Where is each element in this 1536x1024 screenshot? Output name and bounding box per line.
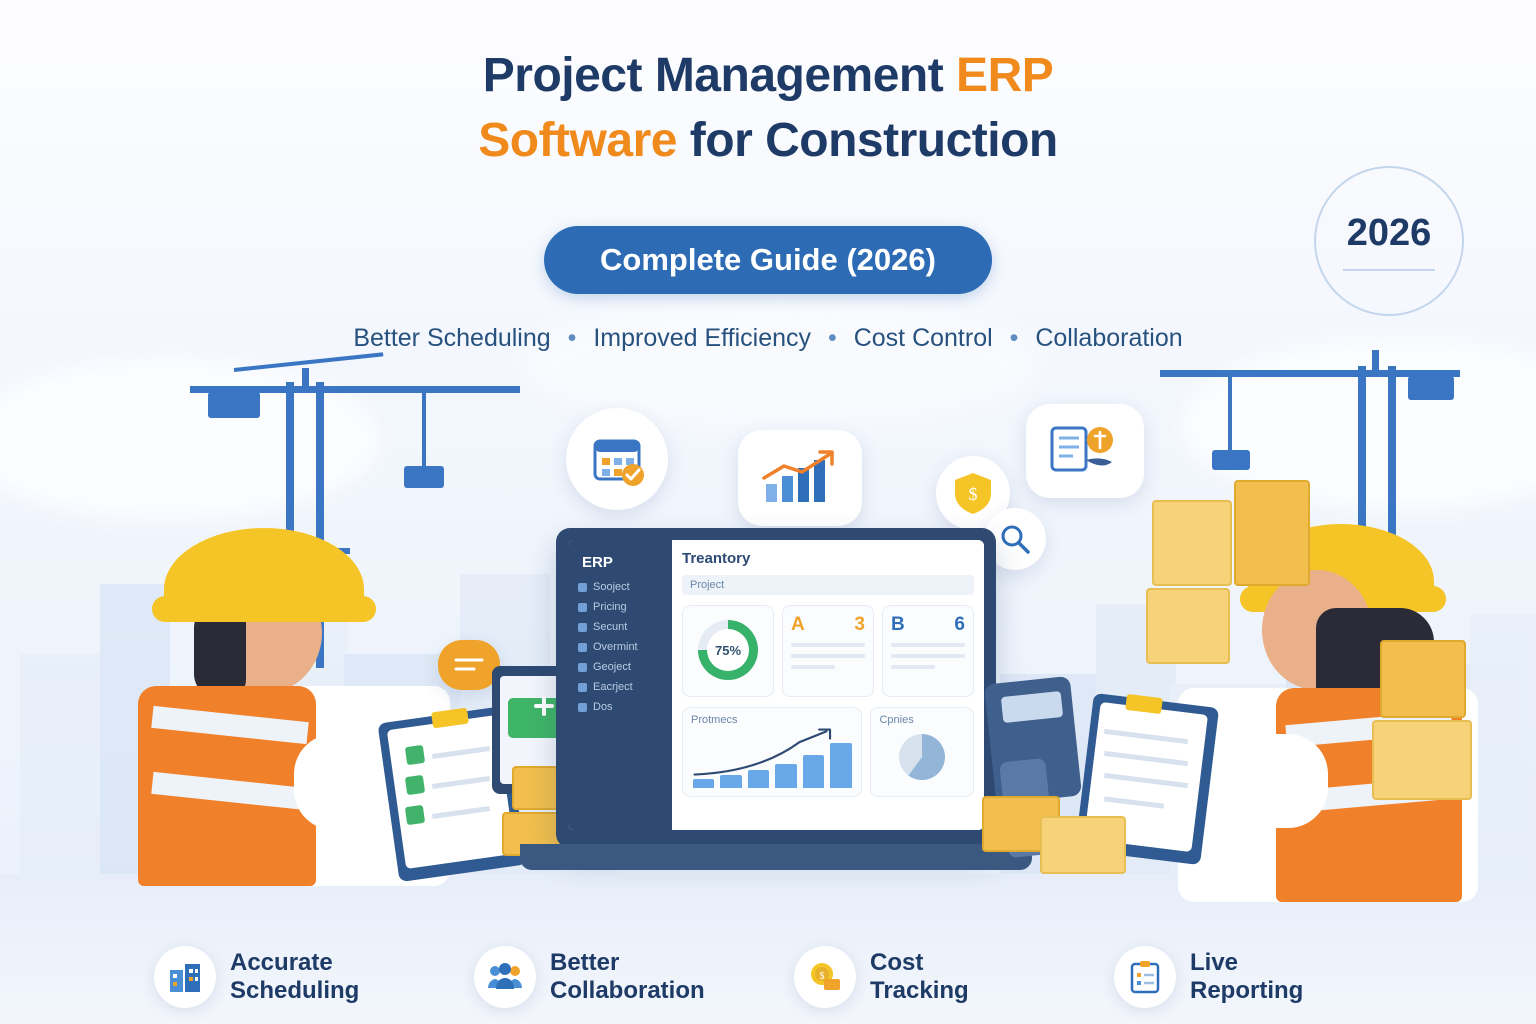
feature-better-collaboration: Better Collaboration [474, 946, 742, 1008]
bubble-growth [738, 430, 862, 526]
metric-card-a: A 3 [782, 605, 874, 697]
feature-accurate-scheduling: Accurate Scheduling [154, 946, 422, 1008]
crate [1372, 720, 1472, 800]
feature-icon-wrap [1114, 946, 1176, 1008]
worker-left [116, 518, 536, 898]
shield-icon: $ [951, 470, 995, 516]
bar-chart-panel: Protmecs [682, 707, 862, 797]
year-badge-underline [1343, 269, 1435, 271]
headline-accent-erp: ERP [956, 49, 1053, 102]
app-brand: ERP [582, 554, 664, 571]
feature-label: Better Collaboration [550, 949, 705, 1006]
sidebar-item-eacrject[interactable]: Eacrject [578, 681, 664, 693]
feature-label: Live Reporting [1190, 949, 1303, 1006]
app-subbar: Project [682, 575, 974, 595]
bubble-chat-small [438, 640, 500, 690]
sidebar-item-secunt[interactable]: Secunt [578, 621, 664, 633]
feature-icon-wrap [474, 946, 536, 1008]
square-icon [578, 683, 587, 692]
divider [891, 654, 965, 658]
headline-accent-software: Software [478, 114, 677, 167]
app-sidebar: ERP Sooject Pricing Secunt Overmint Geoj… [568, 540, 672, 830]
sidebar-item-label: Dos [593, 701, 613, 713]
app-main: Treantory Project 75% A 3 [672, 540, 984, 830]
sidebar-item-label: Geoject [593, 661, 631, 673]
crate [1146, 588, 1230, 664]
crate [1234, 480, 1310, 586]
bullet-3: Cost Control [854, 324, 993, 352]
benefit-bullets: Better Scheduling • Improved Efficiency … [0, 324, 1536, 353]
headline-part-1: Project Management [483, 49, 956, 102]
page-title: Project Management ERP Software for Cons… [0, 44, 1536, 174]
feature-live-reporting: Live Reporting [1114, 946, 1382, 1008]
bullet-2: Improved Efficiency [593, 324, 811, 352]
divider [891, 643, 965, 647]
crate [1380, 640, 1466, 718]
bullet-1: Better Scheduling [353, 324, 550, 352]
metric-a-letter: A [791, 614, 805, 636]
metric-a-number: 3 [854, 614, 865, 636]
crate [1152, 500, 1232, 586]
laptop-base [520, 844, 1032, 870]
laptop-device: ERP Sooject Pricing Secunt Overmint Geoj… [556, 528, 996, 848]
calendar-icon [589, 431, 645, 487]
square-icon [578, 623, 587, 632]
feature-label-line2: Collaboration [550, 977, 705, 1005]
sidebar-item-pricing[interactable]: Pricing [578, 601, 664, 613]
bubble-document-chat [1026, 404, 1144, 498]
sidebar-item-label: Secunt [593, 621, 627, 633]
bullet-4: Collaboration [1035, 324, 1182, 352]
year-badge: 2026 [1314, 166, 1464, 316]
plus-icon [542, 696, 546, 716]
app-chart-row: Protmecs Cpnies [682, 707, 974, 797]
divider [791, 654, 865, 658]
coin-money-icon: $ [808, 961, 842, 993]
sidebar-item-label: Pricing [593, 601, 627, 613]
feature-icon-wrap [154, 946, 216, 1008]
laptop-screen: ERP Sooject Pricing Secunt Overmint Geoj… [568, 540, 984, 830]
bar-chart-title: Protmecs [691, 714, 853, 726]
bullet-separator: • [1010, 324, 1019, 352]
divider [791, 643, 865, 647]
metric-card-b: B 6 [882, 605, 974, 697]
feature-label-line1: Cost [870, 949, 969, 977]
sidebar-item-label: Overmint [593, 641, 638, 653]
metric-b-letter: B [891, 614, 905, 636]
svg-text:$: $ [820, 971, 825, 982]
feature-label-line2: Scheduling [230, 977, 359, 1005]
team-people-icon [487, 962, 523, 992]
progress-donut: 75% [698, 620, 758, 680]
divider [891, 665, 935, 669]
square-icon [578, 663, 587, 672]
laptop-lid: ERP Sooject Pricing Secunt Overmint Geoj… [556, 528, 996, 848]
clipboard-report-icon [1130, 960, 1160, 994]
guide-badge: Complete Guide (2026) [544, 226, 992, 294]
metric-b-number: 6 [954, 614, 965, 636]
feature-label: Cost Tracking [870, 949, 969, 1006]
crate [1040, 816, 1126, 874]
sidebar-item-label: Sooject [593, 581, 630, 593]
divider [791, 665, 835, 669]
bullet-separator: • [568, 324, 577, 352]
progress-value: 75% [707, 629, 749, 671]
square-icon [578, 583, 587, 592]
bubble-calendar [566, 408, 668, 510]
progress-card: 75% [682, 605, 774, 697]
document-chat-icon [1046, 422, 1124, 480]
search-icon [998, 522, 1032, 556]
sidebar-item-overmint[interactable]: Overmint [578, 641, 664, 653]
square-icon [578, 643, 587, 652]
headline-part-2: for Construction [677, 114, 1058, 167]
poster-canvas: Project Management ERP Software for Cons… [0, 0, 1536, 1024]
square-icon [578, 603, 587, 612]
bar-series [693, 738, 851, 788]
feature-icon-wrap: $ [794, 946, 856, 1008]
feature-cost-tracking: $ Cost Tracking [794, 946, 1062, 1008]
building-blueprint-icon [168, 960, 202, 994]
feature-label-line2: Reporting [1190, 977, 1303, 1005]
feature-label-line1: Live [1190, 949, 1303, 977]
feature-label-line2: Tracking [870, 977, 969, 1005]
app-card-row: 75% A 3 [682, 605, 974, 697]
feature-row: Accurate Scheduling Better Collaboration [0, 946, 1536, 1008]
crate [512, 766, 558, 810]
pie-chart-panel: Cpnies [870, 707, 974, 797]
svg-text:$: $ [969, 484, 978, 504]
bullet-separator: • [828, 324, 837, 352]
pie-chart [899, 734, 945, 780]
app-page-title: Treantory [682, 550, 974, 567]
chart-growth-icon [758, 448, 842, 508]
feature-label-line1: Accurate [230, 949, 359, 977]
sidebar-item-label: Eacrject [593, 681, 633, 693]
sidebar-item-dos[interactable]: Dos [578, 701, 664, 713]
square-icon [578, 703, 587, 712]
pie-chart-title: Cpnies [879, 714, 965, 726]
feature-label: Accurate Scheduling [230, 949, 359, 1006]
chat-lines-icon [452, 655, 486, 675]
sidebar-item-sooject[interactable]: Sooject [578, 581, 664, 593]
year-badge-label: 2026 [1347, 212, 1432, 255]
feature-label-line1: Better [550, 949, 705, 977]
sidebar-item-geoject[interactable]: Geoject [578, 661, 664, 673]
